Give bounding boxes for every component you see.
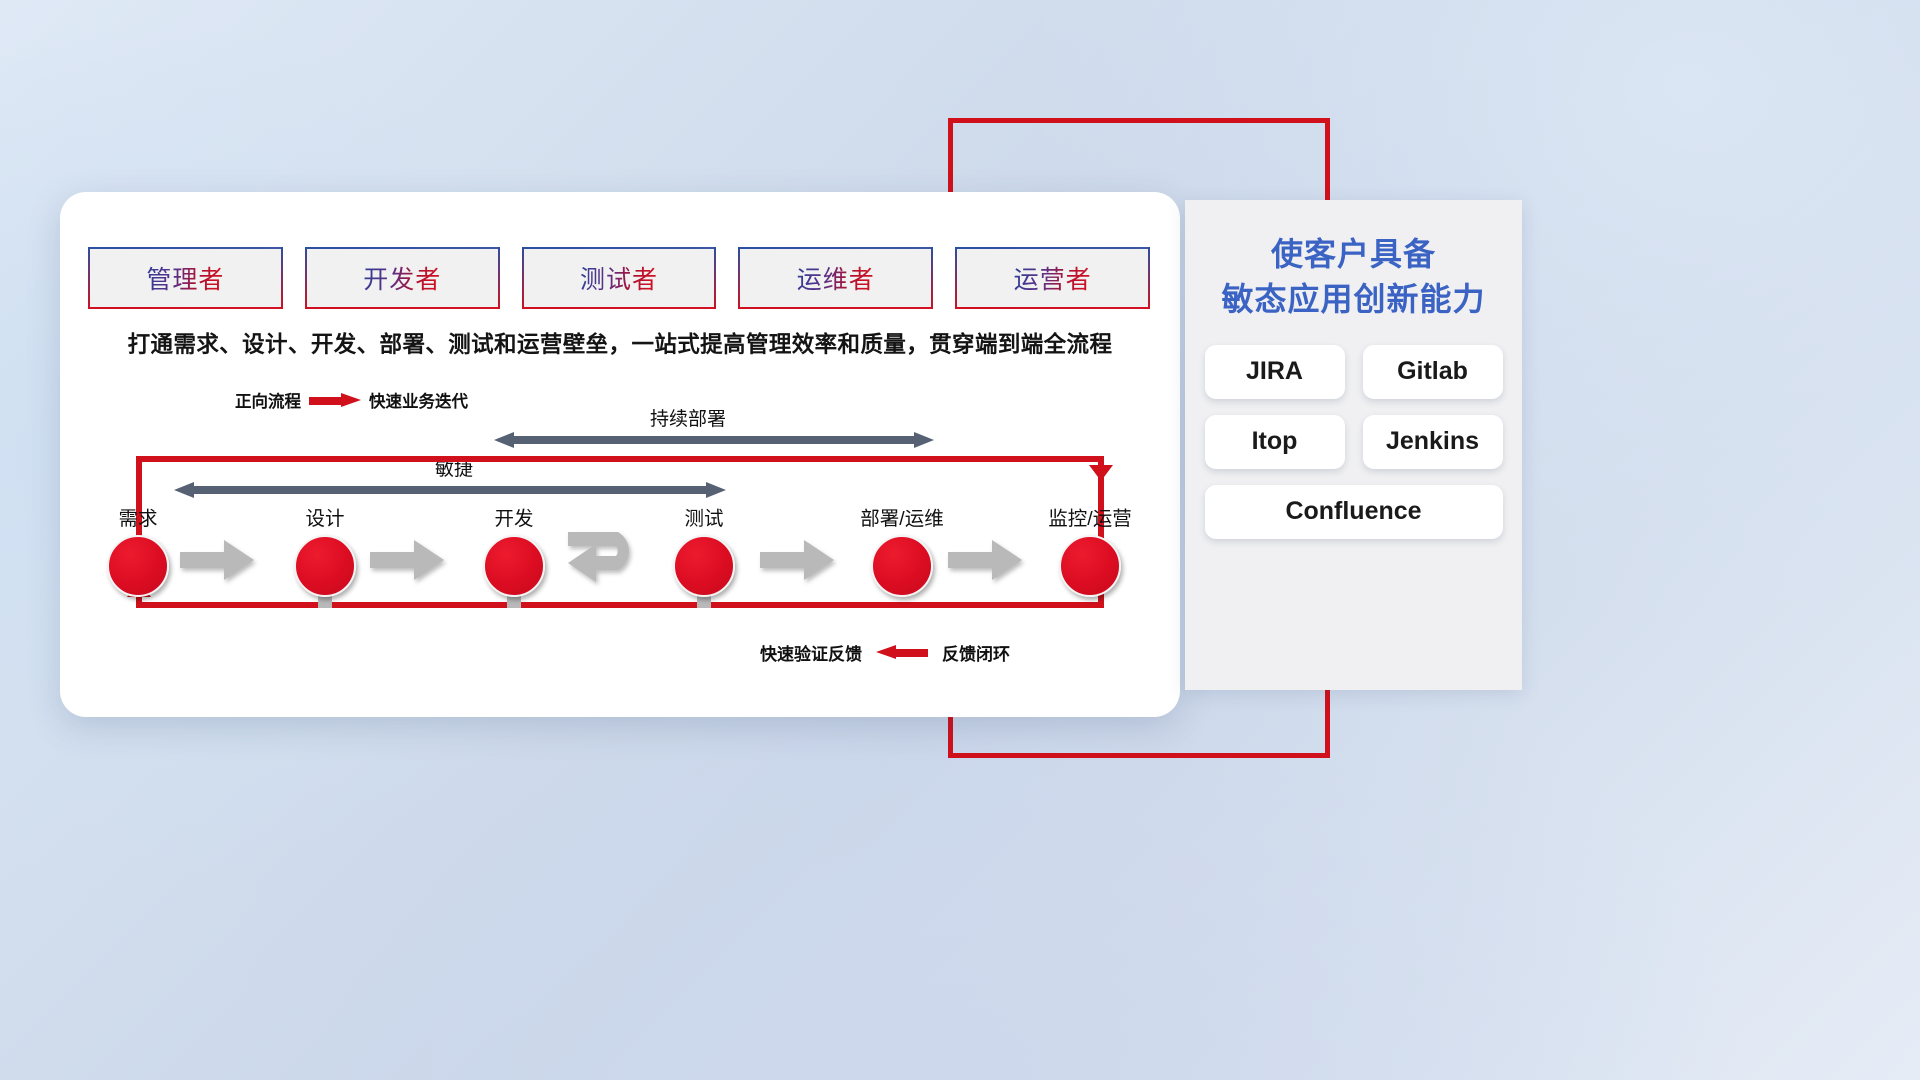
pipeline-node-4[interactable]: 部署/运维 [842,502,962,597]
pipeline-node-label: 部署/运维 [842,502,962,531]
role-border-top [88,247,283,249]
role-border-left [88,247,90,309]
outer-bracket-top [948,118,1330,123]
legend-feedback-loop-label: 反馈闭环 [942,640,1010,665]
arrow-left-red-icon [876,645,928,660]
main-card: 管理者 开发者 测试者 运维者 [60,192,1180,717]
role-label: 开发者 [363,260,441,296]
arrow-right-red-icon [309,393,361,408]
role-box-1[interactable]: 开发者 [305,247,500,309]
role-border-bottom [522,307,717,309]
role-label: 运维者 [797,260,875,296]
role-box-4[interactable]: 运营者 [955,247,1150,309]
role-border-bottom [738,307,933,309]
legend-continuous-deploy-label: 持续部署 [650,404,726,431]
tool-chip-list: JIRA Gitlab Itop Jenkins Confluence [1185,323,1522,539]
role-label: 管理者 [146,260,224,296]
connector-arrow-1-icon [370,540,444,580]
role-border-top [522,247,717,249]
pipeline-node-1[interactable]: 设计 [265,502,385,597]
connector-arrow-3-icon [948,540,1022,580]
arrow-agile-icon [174,482,726,498]
role-border-left [522,247,524,309]
connector-arrow-2-icon [760,540,834,580]
right-panel: 使客户具备 敏态应用创新能力 JIRA Gitlab Itop Jenkins … [1185,200,1522,690]
pipeline-node-2[interactable]: 开发 [454,502,574,597]
role-box-3[interactable]: 运维者 [738,247,933,309]
role-box-0[interactable]: 管理者 [88,247,283,309]
pipeline-node-label: 开发 [454,502,574,531]
pipeline-node-circle [294,535,356,597]
tool-chip-confluence[interactable]: Confluence [1205,485,1503,539]
role-border-top [738,247,933,249]
pipeline-node-5[interactable]: 监控/运营 [1030,502,1150,597]
right-panel-title: 使客户具备 敏态应用创新能力 [1185,200,1522,323]
role-border-left [305,247,307,309]
pipeline-node-3[interactable]: 测试 [644,502,764,597]
pipeline-node-label: 设计 [265,502,385,531]
role-border-right [498,247,500,309]
pipeline-node-label: 测试 [644,502,764,531]
role-border-left [955,247,957,309]
role-border-top [955,247,1150,249]
tool-chip-jira[interactable]: JIRA [1205,345,1345,399]
role-border-right [931,247,933,309]
slide-canvas: 管理者 开发者 测试者 运维者 [0,0,1920,1080]
role-border-bottom [955,307,1150,309]
role-border-left [738,247,740,309]
pipeline-node-circle [673,535,735,597]
pipeline-node-circle [483,535,545,597]
legend-forward-result-label: 快速业务迭代 [369,388,468,412]
role-border-bottom [88,307,283,309]
pipeline-node-label: 监控/运营 [1030,502,1150,531]
tool-chip-jenkins[interactable]: Jenkins [1363,415,1503,469]
legend-feedback: 快速验证反馈 反馈闭环 [760,640,1010,665]
pipeline-node-circle [871,535,933,597]
feedback-loop-top [136,456,1104,462]
role-border-right [1148,247,1150,309]
role-border-top [305,247,500,249]
role-border-right [714,247,716,309]
right-panel-title-line2: 敏态应用创新能力 [1195,277,1512,322]
role-box-2[interactable]: 测试者 [522,247,717,309]
feedback-loop-arrowhead-down-icon [1089,465,1113,481]
pipeline-node-circle [1059,535,1121,597]
role-border-right [281,247,283,309]
feedback-loop-bottom [136,602,1104,608]
tool-chip-gitlab[interactable]: Gitlab [1363,345,1503,399]
pipeline-node-circle [107,535,169,597]
description-text: 打通需求、设计、开发、部署、测试和运营壁垒，一站式提高管理效率和质量，贯穿端到端… [60,327,1180,359]
connector-loop-arrow-icon [560,530,652,588]
pipeline-node-label: 需求 [78,502,198,531]
right-panel-title-line1: 使客户具备 [1195,232,1512,277]
legend-feedback-result-label: 快速验证反馈 [760,640,862,665]
connector-arrow-0-icon [180,540,254,580]
role-border-bottom [305,307,500,309]
role-box-row: 管理者 开发者 测试者 运维者 [88,247,1150,309]
tool-chip-itop[interactable]: Itop [1205,415,1345,469]
role-label: 运营者 [1014,260,1092,296]
role-label: 测试者 [580,260,658,296]
legend-forward-flow: 正向流程 快速业务迭代 [235,388,468,412]
arrow-continuous-deploy-icon [494,432,934,448]
legend-forward-flow-label: 正向流程 [235,388,301,412]
outer-bracket-bottom [948,753,1330,758]
